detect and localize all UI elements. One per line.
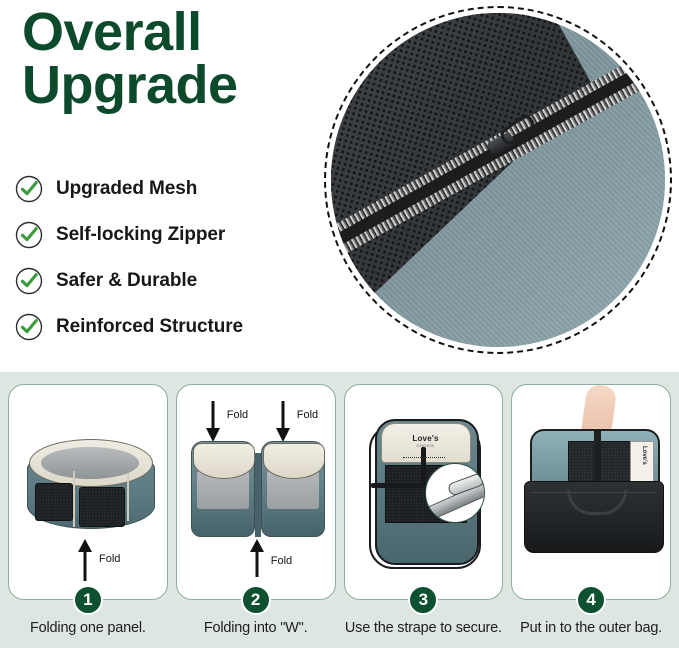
- page-title: Overall Upgrade: [22, 6, 332, 112]
- steps-card-row: Fold 1 Fold: [8, 384, 671, 600]
- check-circle-icon: [14, 220, 44, 250]
- step-2-illustration: Fold Fold: [177, 385, 335, 599]
- feature-item: Reinforced Structure: [14, 304, 314, 350]
- step-caption: Folding one panel.: [8, 620, 168, 636]
- feature-item: Safer & Durable: [14, 258, 314, 304]
- step-badge: 2: [241, 585, 271, 615]
- step-card-1: Fold 1: [8, 384, 168, 600]
- bag-front-panel: [524, 481, 664, 553]
- bag-handle: [567, 490, 627, 515]
- check-circle-icon: [14, 312, 44, 342]
- feature-list: Upgraded Mesh Self-locking Zipper: [14, 166, 314, 350]
- feature-label: Reinforced Structure: [56, 316, 243, 338]
- headline-line-1: Overall: [22, 2, 202, 62]
- check-circle-icon: [14, 266, 44, 296]
- zipper-closeup-photo: [324, 6, 672, 354]
- step-badge: 1: [73, 585, 103, 615]
- strap-magnifier: [425, 463, 485, 523]
- playpen-w-fold: [191, 441, 325, 537]
- callout-leader-line: [403, 457, 445, 459]
- step-caption: Use the strape to secure.: [344, 620, 504, 636]
- step-card-4: Love's 4: [511, 384, 671, 600]
- playpen-open: [27, 425, 153, 535]
- feature-label: Safer & Durable: [56, 270, 197, 292]
- feature-label: Self-locking Zipper: [56, 224, 225, 246]
- fold-label: Fold: [271, 555, 292, 567]
- fold-label: Fold: [99, 553, 120, 565]
- fold-label: Fold: [227, 409, 248, 421]
- infographic-page: Overall Upgrade Upgraded Mesh: [0, 0, 679, 648]
- step-1-illustration: Fold: [9, 385, 167, 599]
- step-badge: 3: [408, 585, 438, 615]
- check-circle-icon: [14, 174, 44, 204]
- fold-arrow-up: [77, 537, 93, 586]
- fold-arrow-up: [249, 537, 265, 582]
- step-caption: Folding into "W".: [176, 620, 336, 636]
- brand-sublabel: CHOICE: [382, 443, 470, 448]
- fold-label: Fold: [297, 409, 318, 421]
- step-caption: Put in to the outer bag.: [511, 620, 671, 636]
- step-card-3: Love's CHOICE 3: [344, 384, 504, 600]
- feature-label: Upgraded Mesh: [56, 178, 197, 200]
- feature-item: Self-locking Zipper: [14, 212, 314, 258]
- step-captions-row: Folding one panel. Folding into "W". Use…: [8, 620, 671, 636]
- brand-label: Love's CHOICE: [382, 434, 470, 448]
- feature-item: Upgraded Mesh: [14, 166, 314, 212]
- step-3-illustration: Love's CHOICE: [345, 385, 503, 599]
- steps-section: Fold 1 Fold: [0, 372, 679, 648]
- headline-line-2: Upgrade: [22, 59, 332, 112]
- top-section: Overall Upgrade Upgraded Mesh: [0, 0, 679, 372]
- step-card-2: Fold Fold: [176, 384, 336, 600]
- step-4-illustration: Love's: [512, 385, 670, 599]
- step-badge: 4: [576, 585, 606, 615]
- outer-bag: Love's: [524, 429, 662, 551]
